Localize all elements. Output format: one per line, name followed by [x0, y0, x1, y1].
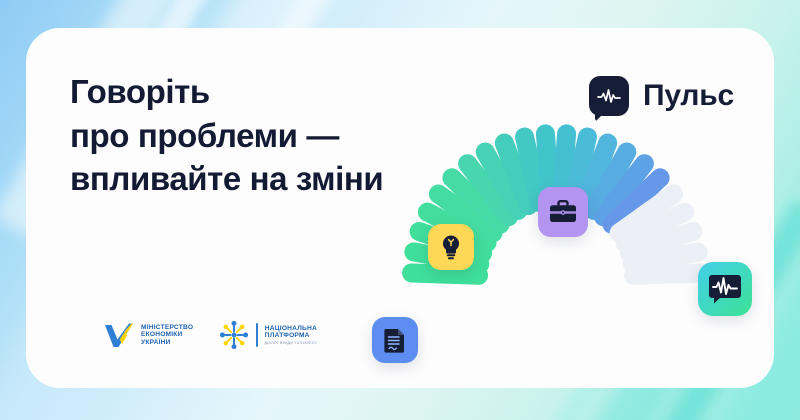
brand-name: Пульс — [643, 79, 734, 113]
document-icon-tile[interactable] — [372, 317, 418, 363]
poster-stage: Говоріть про проблеми — впливайте на змі… — [0, 0, 800, 420]
pulse-icon-tile[interactable] — [698, 262, 752, 316]
briefcase-icon-tile[interactable] — [538, 187, 588, 237]
national-platform-logo: Національна платформа Діалог влади та бі… — [219, 320, 317, 350]
content-card: Говоріть про проблеми — впливайте на змі… — [26, 28, 774, 388]
brand-lockup: Пульс — [589, 76, 734, 116]
lightbulb-icon — [440, 234, 462, 260]
national-platform-star-icon — [219, 320, 249, 350]
platform-logo-text: Національна платформа Діалог влади та бі… — [265, 325, 317, 346]
document-icon — [384, 327, 406, 353]
pulse-speech-bubble-icon — [589, 76, 629, 116]
lightbulb-icon-tile[interactable] — [428, 224, 474, 270]
pulse-speech-bubble-icon — [708, 273, 742, 305]
ministry-of-economy-checkmark-icon — [104, 322, 134, 348]
footer-logos: Міністерство економіки України — [104, 320, 317, 350]
platform-subtitle: Діалог влади та бізнесу — [265, 341, 317, 345]
ministry-line-2: економіки — [141, 331, 193, 339]
logo-divider — [256, 323, 258, 347]
platform-line-2: платформа — [265, 332, 317, 340]
ministry-line-3: України — [141, 339, 193, 347]
ministry-of-economy-logo: Міністерство економіки України — [104, 322, 193, 348]
briefcase-icon — [549, 200, 577, 224]
ministry-logo-text: Міністерство економіки України — [141, 324, 193, 347]
page-title: Говоріть про проблеми — впливайте на змі… — [70, 70, 383, 201]
ministry-line-1: Міністерство — [141, 324, 193, 332]
platform-line-1: Національна — [265, 325, 317, 333]
